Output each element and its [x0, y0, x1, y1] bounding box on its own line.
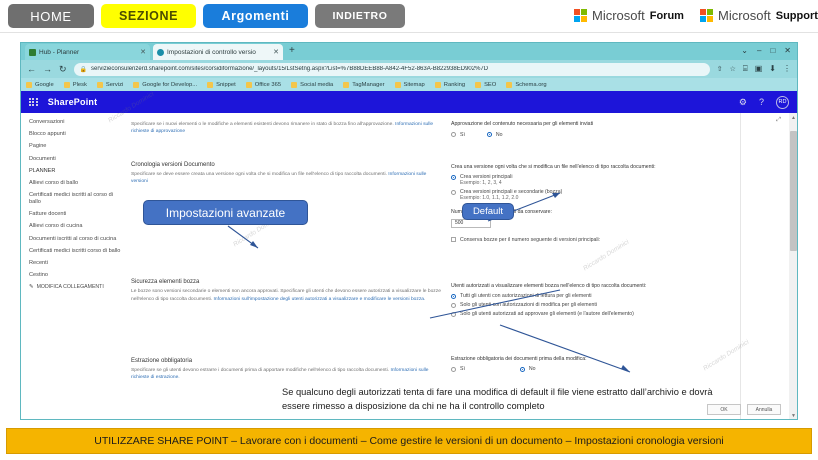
callout-impostazioni-avanzate: Impostazioni avanzate	[143, 200, 308, 225]
close-window-icon[interactable]: ✕	[784, 46, 791, 55]
edit-links-label: MODIFICA COLLEGAMENTI	[37, 284, 104, 290]
sharepoint-favicon-icon	[157, 49, 164, 56]
bookmark-label: Plesk	[73, 82, 87, 88]
checkout-description-text: Specificare se gli utenti devono estrarr…	[131, 368, 389, 373]
column-divider	[740, 113, 741, 420]
sidebar-item-blocco-appunti[interactable]: Blocco appunti	[29, 131, 121, 138]
address-bar[interactable]: 🔒 servizieconsulenzerd.sharepoint.com/si…	[74, 63, 710, 76]
nav-argomenti-button[interactable]: Argomenti	[203, 4, 308, 28]
sidebar-item-documenti-cucina[interactable]: Documenti iscritti al corso di cucina	[29, 236, 121, 243]
extension-icon[interactable]: ⌸	[743, 64, 748, 74]
sidebar-item-cestino[interactable]: Cestino	[29, 272, 121, 279]
radio-label: Solo gli utenti autorizzati ad approvare…	[460, 311, 634, 319]
nav-home-button[interactable]: HOME	[8, 4, 94, 28]
address-bar-url: servizieconsulenzerd.sharepoint.com/site…	[91, 66, 488, 72]
checkout-title: Estrazione obbligatoria	[131, 358, 443, 364]
suite-bar-actions: ⚙ ? RD	[739, 96, 789, 109]
edit-links-button[interactable]: ✎ MODIFICA COLLEGAMENTI	[29, 284, 126, 290]
bookmark-item[interactable]: Snippet	[207, 82, 236, 88]
checkout-description: Specificare se gli utenti devono estrarr…	[131, 367, 443, 381]
microsoft-forum-link[interactable]: Microsoft Forum	[574, 8, 684, 23]
bookmark-label: TagManager	[352, 82, 384, 88]
checkout-radio-si[interactable]: Sì	[451, 366, 465, 372]
radio-label: Tutti gli utenti con autorizzazioni di l…	[460, 293, 592, 299]
folder-icon	[246, 82, 252, 88]
radio-icon	[451, 303, 456, 308]
help-icon[interactable]: ?	[759, 97, 764, 107]
version-history-description-text: Specificare se deve essere creata una ve…	[131, 172, 387, 177]
settings-descriptions-column: Specificare se i nuovi elementi o le mod…	[131, 113, 443, 381]
sidebar-item-documenti[interactable]: Documenti	[29, 156, 121, 163]
bookmark-item[interactable]: Servizi	[97, 82, 123, 88]
draft-visibility-radio-approvers[interactable]: Solo gli utenti autorizzati ad approvare…	[451, 311, 737, 319]
scroll-up-icon[interactable]: ▲	[791, 115, 796, 121]
versioning-minor-example: Esempio: 1.0, 1.1, 1.2, 2.0	[460, 195, 737, 201]
version-history-title: Cronologia versioni Documento	[131, 162, 443, 168]
approval-radio-no[interactable]: No	[487, 132, 503, 138]
sharepoint-left-nav: Conversazioni Blocco appunti Pagine Docu…	[21, 113, 126, 420]
settings-content: ⤢ Specificare se i nuovi elementi o le m…	[126, 113, 797, 420]
microsoft-logo-icon	[700, 9, 713, 22]
radio-icon	[451, 132, 456, 137]
sidebar-item-planner[interactable]: PLANNER	[29, 168, 121, 175]
folder-icon	[506, 82, 512, 88]
bookmark-star-icon[interactable]: ☆	[730, 65, 736, 73]
bookmark-label: Office 365	[255, 82, 281, 88]
folder-icon	[26, 82, 32, 88]
chevron-down-icon[interactable]: ⌄	[741, 46, 748, 55]
checkbox-icon	[451, 237, 456, 242]
browser-extensions: ⌸ ▣ ⬇ ⋮	[743, 64, 791, 74]
cancel-button[interactable]: Annulla	[747, 404, 781, 415]
bookmark-label: Google for Develop...	[142, 82, 197, 88]
sidebar-item-recenti[interactable]: Recenti	[29, 260, 121, 267]
microsoft-forum-label: Forum	[650, 10, 684, 22]
lesson-caption: UTILIZZARE SHARE POINT – Lavorare con i …	[6, 428, 812, 454]
versioning-question: Crea una versione ogni volta che si modi…	[451, 164, 737, 172]
browser-tab-sharepoint-settings[interactable]: Impostazioni di controllo versio ✕	[153, 44, 283, 60]
draft-visibility-radio-editors[interactable]: Solo gli utenti con autorizzazioni di mo…	[451, 302, 737, 308]
close-icon[interactable]: ✕	[140, 48, 146, 56]
downloads-icon[interactable]: ⬇	[769, 64, 776, 74]
share-icon[interactable]: ⇧	[717, 65, 723, 73]
checkout-question: Estrazione obbligatoria dei documenti pr…	[451, 356, 737, 364]
draft-visibility-radio-readers[interactable]: Tutti gli utenti con autorizzazioni di l…	[451, 293, 737, 299]
draft-visibility-question: Utenti autorizzati a visualizzare elemen…	[451, 283, 737, 291]
bookmark-label: SEO	[484, 82, 496, 88]
radio-label: Solo gli utenti con autorizzazioni di mo…	[460, 302, 597, 308]
checkout-radio-no[interactable]: No	[520, 366, 536, 372]
radio-label: No	[529, 366, 536, 372]
radio-icon-selected	[487, 132, 492, 137]
folder-icon	[97, 82, 103, 88]
sidebar-item-allievi-ballo[interactable]: Allievi corso di ballo	[29, 180, 121, 187]
microsoft-logo-icon	[574, 9, 587, 22]
vertical-scrollbar[interactable]: ▲ ▼	[789, 113, 797, 420]
header-divider	[0, 32, 818, 33]
bookmark-item[interactable]: SEO	[475, 82, 496, 88]
bookmarks-bar: Google Plesk Servizi Google for Develop.…	[21, 78, 797, 91]
draft-security-title: Sicurezza elementi bozza	[131, 279, 443, 285]
bookmark-item[interactable]: Social media	[291, 82, 333, 88]
bookmark-item[interactable]: TagManager	[343, 82, 384, 88]
bookmark-item[interactable]: Sitemap	[395, 82, 425, 88]
microsoft-supporto-link[interactable]: Microsoft Supporto	[700, 8, 818, 23]
radio-label: No	[496, 132, 503, 138]
browser-toolbar: ← → ↻ 🔒 servizieconsulenzerd.sharepoint.…	[21, 60, 797, 78]
planner-favicon-icon	[29, 49, 36, 56]
settings-controls-column: Approvazione del contenuto necessaria pe…	[451, 113, 737, 372]
approval-radio-si[interactable]: Sì	[451, 132, 465, 138]
avatar[interactable]: RD	[776, 96, 789, 109]
radio-icon	[451, 190, 456, 195]
browser-tab-planner[interactable]: Hub - Planner ✕	[25, 44, 150, 60]
sidebar-item-certificati-ballo-2[interactable]: Certificati medici iscritti corso di bal…	[29, 248, 121, 255]
scroll-down-icon[interactable]: ▼	[791, 413, 796, 419]
callout-default: Default	[462, 203, 514, 220]
folder-icon	[207, 82, 213, 88]
sharepoint-page-body: Conversazioni Blocco appunti Pagine Docu…	[21, 113, 797, 420]
app-launcher-icon[interactable]	[29, 98, 38, 107]
folder-icon	[64, 82, 70, 88]
sidebar-item-pagine[interactable]: Pagine	[29, 143, 121, 150]
draft-security-description: Le bozze sono versioni secondarie o elem…	[131, 288, 443, 302]
course-navigation-bar: HOME SEZIONE Argomenti INDIETRO Microsof…	[0, 0, 818, 33]
pencil-icon: ✎	[29, 284, 34, 290]
approval-description: Specificare se i nuovi elementi o le mod…	[131, 121, 443, 135]
folder-icon	[475, 82, 481, 88]
bookmark-label: Schema.org	[515, 82, 546, 88]
radio-icon-selected	[520, 367, 525, 372]
bookmark-label: Social media	[300, 82, 333, 88]
bookmark-label: Servizi	[106, 82, 123, 88]
checkbox-label: Conserva bozze per il numero seguente di…	[460, 237, 600, 243]
back-icon[interactable]: ←	[27, 64, 36, 74]
nav-indietro-button[interactable]: INDIETRO	[315, 4, 405, 28]
window-controls: ⌄ – □ ✕	[741, 46, 791, 55]
folder-icon	[435, 82, 441, 88]
radio-icon	[451, 312, 456, 317]
bookmark-label: Ranking	[444, 82, 465, 88]
maximize-icon[interactable]: □	[770, 46, 775, 55]
lock-icon: 🔒	[80, 66, 87, 73]
folder-icon	[343, 82, 349, 88]
approval-question: Approvazione del contenuto necessaria pe…	[451, 121, 737, 129]
bookmark-label: Sitemap	[404, 82, 425, 88]
radio-icon-selected	[451, 294, 456, 299]
close-icon[interactable]: ✕	[273, 48, 279, 56]
draft-security-info-link[interactable]: Informazioni sull'impostazione degli ute…	[214, 297, 426, 302]
radio-label: Sì	[460, 132, 465, 138]
folder-icon	[133, 82, 139, 88]
microsoft-brand-label: Microsoft	[718, 8, 771, 23]
tab-title: Impostazioni di controllo versio	[167, 49, 270, 56]
expand-icon[interactable]: ⤢	[776, 117, 781, 124]
versioning-major-example: Esempio: 1, 2, 3, 4	[460, 180, 737, 186]
bookmark-item[interactable]: Plesk	[64, 82, 87, 88]
omnibox-actions: ⇧ ☆	[717, 65, 736, 73]
bookmark-item[interactable]: Schema.org	[506, 82, 546, 88]
bookmark-item[interactable]: Google	[26, 82, 54, 88]
folder-icon	[291, 82, 297, 88]
approval-description-text: Specificare se i nuovi elementi o le mod…	[131, 122, 394, 127]
sidebar-item-allievi-cucina[interactable]: Allievi corso di cucina	[29, 223, 121, 230]
bookmark-item[interactable]: Ranking	[435, 82, 465, 88]
radio-icon-selected	[451, 175, 456, 180]
version-history-description: Specificare se deve essere creata una ve…	[131, 171, 443, 185]
reload-icon[interactable]: ↻	[59, 64, 67, 75]
browser-tab-strip: Hub - Planner ✕ Impostazioni di controll…	[21, 43, 797, 60]
scrollbar-thumb[interactable]	[790, 131, 797, 251]
radio-label: Sì	[460, 366, 465, 372]
sidebar-item-fatture-docenti[interactable]: Fatture docenti	[29, 211, 121, 218]
nav-sezione-button[interactable]: SEZIONE	[101, 4, 196, 28]
microsoft-brand-label: Microsoft	[592, 8, 645, 23]
sidebar-item-certificati-ballo[interactable]: Certificati medici iscritti al corso di …	[29, 192, 121, 206]
gear-icon[interactable]: ⚙	[739, 97, 747, 108]
bookmark-label: Snippet	[216, 82, 236, 88]
microsoft-supporto-label: Supporto	[776, 10, 818, 22]
sharepoint-brand-label[interactable]: SharePoint	[48, 97, 98, 107]
screenshot-root: HOME SEZIONE Argomenti INDIETRO Microsof…	[0, 0, 818, 460]
sidebar-icon[interactable]: ▣	[755, 64, 763, 74]
bookmark-item[interactable]: Google for Develop...	[133, 82, 197, 88]
folder-icon	[395, 82, 401, 88]
tab-title: Hub - Planner	[39, 49, 137, 56]
forward-icon[interactable]: →	[43, 64, 52, 74]
new-tab-button[interactable]: +	[289, 46, 295, 56]
bookmark-item[interactable]: Office 365	[246, 82, 281, 88]
radio-icon	[451, 367, 456, 372]
annotation-note: Se qualcuno degli autorizzati tenta di f…	[282, 385, 722, 414]
minimize-icon[interactable]: –	[757, 46, 761, 55]
browser-menu-icon[interactable]: ⋮	[783, 64, 791, 74]
bookmark-label: Google	[35, 82, 54, 88]
